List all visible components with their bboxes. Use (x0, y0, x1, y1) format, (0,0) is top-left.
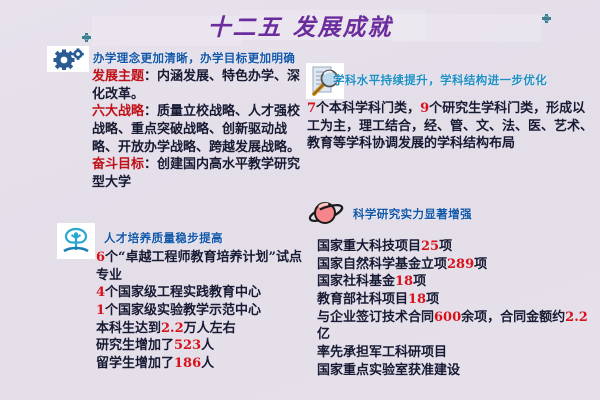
num-national-demo-center: 1 (96, 303, 105, 318)
section-body-research-capability: 国家重大科技项目25项 国家自然科学基金立项289项 国家社科基金18项 教育部… (317, 238, 597, 379)
num-nsfc: 289 (447, 257, 474, 272)
pre-enterprise-contracts: 与企业签订技术合同 (317, 310, 434, 325)
text-major-projects: 项 (439, 239, 452, 254)
text-graduate: 人 (201, 338, 214, 353)
num-contract-amount: 2.2 (565, 310, 588, 325)
text-excellent-engineer: 个“卓越工程师教育培养计划”试点专业 (96, 250, 302, 283)
pre-undergraduate: 本科生达到 (96, 321, 161, 336)
pre-moe-projects: 教育部社科项目 (317, 292, 408, 307)
num-enterprise-contracts: 600 (434, 310, 461, 325)
pre-major-projects: 国家重大科技项目 (317, 239, 421, 254)
text-social-science-fund: 项 (413, 274, 426, 289)
text-nsfc: 项 (474, 257, 487, 272)
num-undergrad-disciplines: 7 (307, 101, 316, 116)
tree-icon-svg (60, 226, 92, 256)
tree-icon (57, 223, 95, 259)
section-heading-talent-cultivation: 人才培养质量稳步提高 (104, 230, 223, 246)
num-excellent-engineer: 6 (96, 250, 105, 265)
slide-canvas: 十二五 发展成就 办学理念更加清晰，办学目标更加明确 发展主题：内涵发展、特色办… (0, 0, 600, 400)
pre-international-student: 留学生增加了 (96, 356, 174, 371)
text-contract-amount: 亿 (317, 327, 330, 342)
num-international-student: 186 (174, 356, 201, 371)
pre-social-science-fund: 国家社科基金 (317, 274, 395, 289)
section-body-education-philosophy: 发展主题：内涵发展、特色办学、深化改革。 六大战略：质量立校战略、人才强校战略、… (92, 68, 310, 192)
text-national-practice-center: 个国家级工程实践教育中心 (105, 285, 261, 300)
num-moe-projects: 18 (408, 292, 426, 307)
gear-icon-svg (51, 48, 85, 70)
page-title: 十二五 发展成就 (0, 8, 600, 42)
planet-icon-svg (307, 198, 347, 230)
text-national-demo-center: 个国家级实验教学示范中心 (105, 303, 261, 318)
pre-graduate: 研究生增加了 (96, 338, 174, 353)
section-heading-research-capability: 科学研究实力显著增强 (353, 206, 472, 222)
label-six-strategies: 六大战略 (92, 104, 144, 119)
num-social-science-fund: 18 (395, 274, 413, 289)
text-international-student: 人 (201, 356, 214, 371)
num-graduate: 523 (174, 338, 201, 353)
section-heading-discipline-level: 学科水平持续提升，学科结构进一步优化 (333, 72, 547, 88)
section-body-talent-cultivation: 6个“卓越工程师教育培养计划”试点专业 4个国家级工程实践教育中心 1个国家级实… (96, 249, 311, 373)
num-national-practice-center: 4 (96, 285, 105, 300)
label-struggle-goal: 奋斗目标 (92, 157, 144, 172)
label-development-theme: 发展主题 (92, 69, 144, 84)
num-undergraduate: 2.2 (161, 321, 184, 336)
section-body-discipline-level: 7个本科学科门类，9个研究生学科门类，形成以工为主，理工结合，经、管、文、法、医… (307, 100, 595, 153)
text-key-laboratory: 国家重点实验室获准建设 (317, 363, 460, 378)
gear-icon (47, 46, 89, 72)
text-undergrad-disciplines: 个本科学科门类， (316, 101, 420, 116)
text-moe-projects: 项 (426, 292, 439, 307)
num-major-projects: 25 (421, 239, 439, 254)
planet-icon (307, 198, 347, 230)
text-undergraduate: 万人左右 (184, 321, 236, 336)
section-heading-education-philosophy: 办学理念更加清晰，办学目标更加明确 (93, 50, 295, 66)
num-graduate-disciplines: 9 (420, 101, 429, 116)
text-military-projects: 率先承担军工科研项目 (317, 345, 447, 360)
pre-nsfc: 国家自然科学基金立项 (317, 257, 447, 272)
text-enterprise-contracts: 余项，合同金额约 (461, 310, 565, 325)
